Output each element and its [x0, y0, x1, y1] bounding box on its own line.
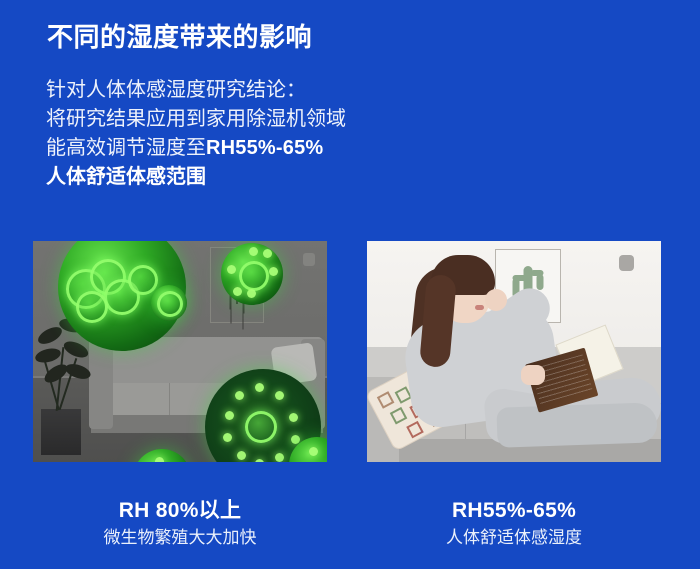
photo-high-humidity — [33, 241, 327, 462]
woman-reading — [401, 255, 651, 455]
caption-high-humidity: RH 80%以上 微生物繁殖大大加快 — [33, 498, 327, 550]
body-line-3-prefix: 能高效调节湿度至 — [46, 137, 206, 159]
microbe-tiny-icon — [151, 285, 187, 321]
caption-comfort-humidity: RH55%-65% 人体舒适体感湿度 — [367, 498, 661, 550]
body-line-4: 人体舒适体感范围 — [46, 163, 346, 192]
humidity-range-highlight: RH55%-65% — [206, 137, 323, 159]
wall-knob-icon — [303, 253, 315, 266]
bright-room-scene — [367, 241, 661, 462]
photo-comfort-humidity — [367, 241, 661, 462]
microbe-medium-icon — [221, 243, 283, 305]
dark-room-scene — [33, 241, 327, 462]
humidity-comparison-slide: 不同的湿度带来的影响 针对人体体感湿度研究结论： 将研究结果应用到家用除湿机领域… — [0, 0, 700, 569]
legs-pajama-pants-lower — [496, 402, 657, 448]
body-line-3: 能高效调节湿度至RH55%-65% — [46, 134, 346, 163]
plant-pot — [41, 409, 81, 455]
caption-left-subtitle: 微生物繁殖大大加快 — [33, 526, 327, 550]
caption-right-title: RH55%-65% — [367, 498, 661, 524]
hand-at-head — [485, 289, 507, 311]
plant-leaf — [34, 346, 62, 365]
hand-holding-book — [521, 365, 545, 385]
caption-right-subtitle: 人体舒适体感湿度 — [367, 526, 661, 550]
caption-left-title: RH 80%以上 — [33, 498, 327, 524]
body-copy: 针对人体体感湿度研究结论： 将研究结果应用到家用除湿机领域 能高效调节湿度至RH… — [46, 76, 346, 192]
page-title: 不同的湿度带来的影响 — [47, 17, 312, 54]
lips — [475, 305, 484, 310]
body-line-2: 将研究结果应用到家用除湿机领域 — [46, 105, 346, 134]
sofa-seam — [169, 383, 170, 415]
body-line-1: 针对人体体感湿度研究结论： — [46, 76, 346, 105]
